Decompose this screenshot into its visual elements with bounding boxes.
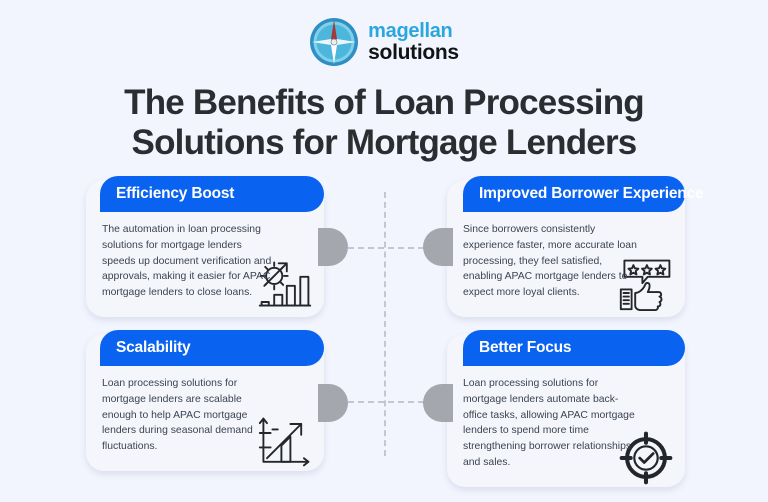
benefit-card-efficiency-boost[interactable]: Efficiency Boost The automation in loan … — [86, 180, 324, 317]
card-body: Loan processing solutions for mortgage l… — [447, 366, 685, 487]
benefit-card-improved-borrower-experience[interactable]: Improved Borrower Experience Since borro… — [447, 180, 685, 317]
card-title: Better Focus — [463, 330, 685, 366]
card-body: Loan processing solutions for mortgage l… — [86, 366, 324, 471]
compass-rose-icon — [309, 17, 359, 67]
logo-word-solutions: solutions — [368, 42, 459, 63]
logo-word-magellan: magellan — [368, 21, 459, 41]
card-title: Efficiency Boost — [100, 176, 324, 212]
card-body: Since borrowers consistently experience … — [447, 212, 685, 317]
logo-bar: magellan solutions — [0, 0, 768, 67]
card-description: The automation in loan processing soluti… — [102, 222, 277, 301]
card-body: The automation in loan processing soluti… — [86, 212, 324, 317]
page-title-line-1: The Benefits of Loan Processing — [124, 83, 644, 122]
card-title: Improved Borrower Experience — [463, 176, 685, 212]
card-description: Loan processing solutions for mortgage l… — [463, 376, 638, 471]
connector-dashed-vertical — [384, 192, 386, 456]
connector-dashed-top — [348, 247, 424, 249]
benefit-card-scalability[interactable]: Scalability Loan processing solutions fo… — [86, 334, 324, 471]
card-title: Scalability — [100, 330, 324, 366]
page-title-line-2: Solutions for Mortgage Lenders — [132, 123, 637, 162]
card-description: Loan processing solutions for mortgage l… — [102, 376, 277, 455]
benefits-grid: Efficiency Boost The automation in loan … — [0, 172, 768, 492]
logo-wordmark: magellan solutions — [368, 21, 459, 63]
brand-logo[interactable]: magellan solutions — [309, 17, 459, 67]
page-title: The Benefits of Loan Processing Solution… — [0, 83, 768, 163]
card-description: Since borrowers consistently experience … — [463, 222, 638, 301]
connector-dashed-bottom — [348, 401, 424, 403]
benefit-card-better-focus[interactable]: Better Focus Loan processing solutions f… — [447, 334, 685, 487]
